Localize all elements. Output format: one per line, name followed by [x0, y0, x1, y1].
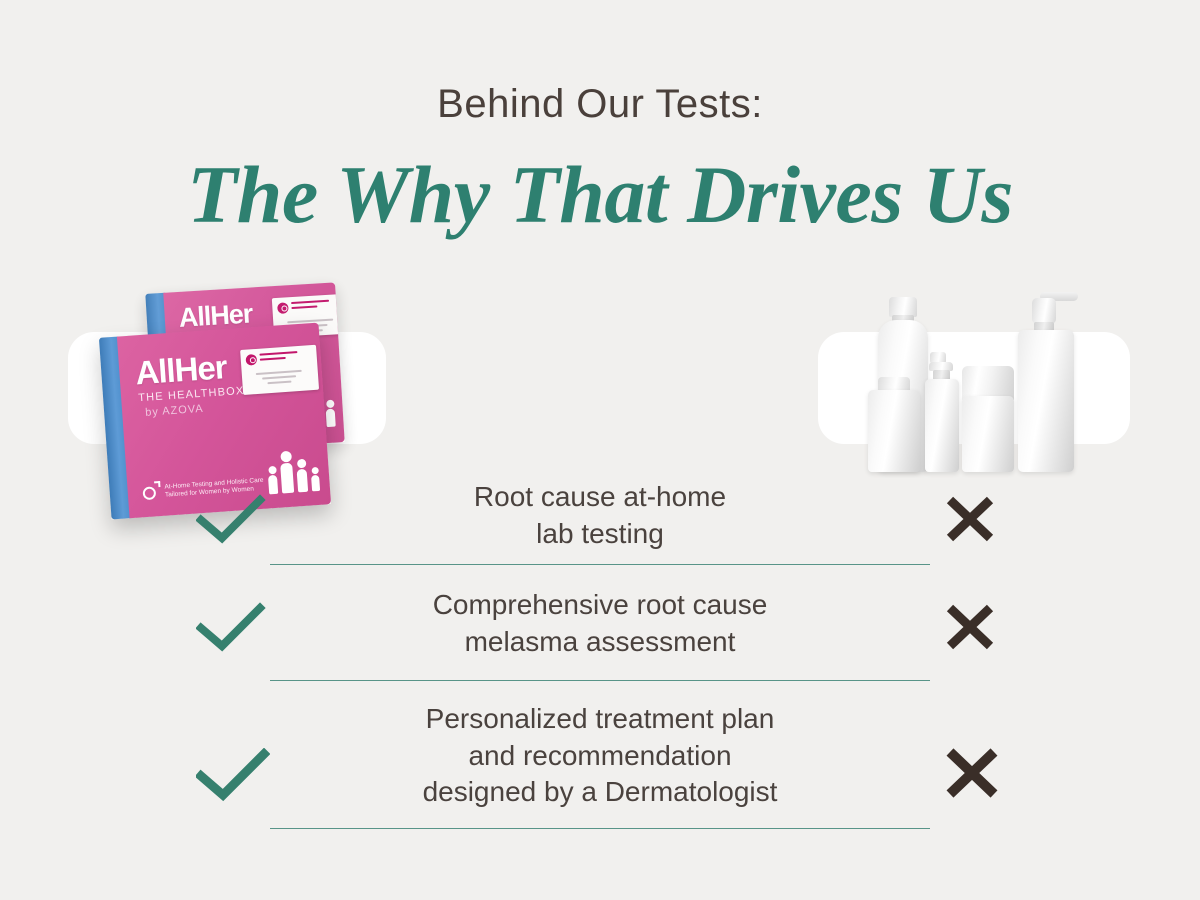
row-line: Comprehensive root cause — [280, 587, 920, 624]
card-body-line — [262, 375, 296, 379]
comparison-row-label: Root cause at-home lab testing — [280, 479, 920, 553]
row-line: and recommendation — [280, 738, 920, 775]
comparison-row-label: Comprehensive root cause melasma assessm… — [280, 587, 920, 661]
white-pump-bottle — [1018, 292, 1074, 472]
row-line: designed by a Dermatologist — [280, 774, 920, 811]
box-brand-label: AllHer — [134, 351, 227, 389]
card-title-line — [291, 305, 317, 309]
comparison-row: Personalized treatment plan and recommen… — [0, 682, 1200, 830]
row-divider — [270, 828, 930, 829]
person-icon — [325, 399, 336, 427]
box-label-card — [240, 345, 319, 395]
white-spray-bottle — [925, 352, 959, 472]
row-line: lab testing — [280, 516, 920, 553]
comparison-row-label: Personalized treatment plan and recommen… — [280, 701, 920, 812]
white-jar-bottle — [868, 377, 920, 472]
white-airless-pump-jar — [962, 366, 1014, 472]
venus-badge-icon — [245, 354, 257, 366]
card-body-line — [256, 370, 302, 375]
row-divider — [270, 564, 930, 565]
comparison-table: Root cause at-home lab testing Comprehen… — [0, 466, 1200, 830]
check-icon — [196, 602, 266, 657]
comparison-row: Comprehensive root cause melasma assessm… — [0, 566, 1200, 682]
cross-icon — [942, 746, 1002, 805]
page-header: Behind Our Tests: The Why That Drives Us — [0, 0, 1200, 236]
comparison-row: Root cause at-home lab testing — [0, 466, 1200, 566]
card-title-line — [260, 356, 286, 360]
card-title-line — [259, 351, 297, 356]
card-body-line — [267, 381, 291, 384]
check-icon — [196, 748, 270, 807]
row-line: melasma assessment — [280, 624, 920, 661]
page-title: The Why That Drives Us — [0, 154, 1200, 236]
row-line: Personalized treatment plan — [280, 701, 920, 738]
cross-icon — [942, 602, 998, 657]
allher-kit-group: AllHer THE HEALTHBOX™ by AZOVA — [95, 288, 400, 488]
eyebrow-text: Behind Our Tests: — [0, 84, 1200, 124]
box-byline-label: by AZOVA — [145, 403, 204, 419]
venus-badge-icon — [277, 302, 289, 314]
check-icon — [196, 494, 266, 549]
generic-skincare-bottles — [860, 286, 1090, 472]
card-title-line — [291, 300, 329, 304]
row-line: Root cause at-home — [280, 479, 920, 516]
row-divider — [270, 680, 930, 681]
cross-icon — [942, 494, 998, 549]
